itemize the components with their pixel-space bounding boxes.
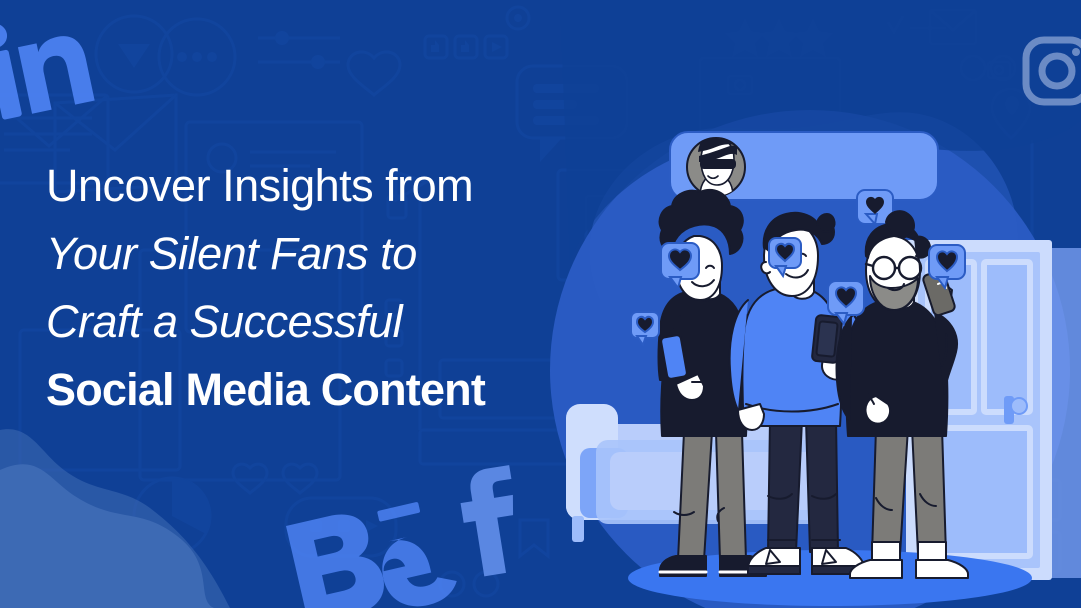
heart-badge	[828, 281, 864, 324]
headline-line-3: Craft a Successful	[46, 288, 626, 356]
heart-badge	[661, 243, 699, 288]
headline-block: Uncover Insights from Your Silent Fans t…	[46, 152, 626, 424]
heart-badge	[631, 312, 659, 345]
headline-line-4: Social Media Content	[46, 356, 626, 424]
social-media-banner: Uncover Insights from Your Silent Fans t…	[0, 0, 1081, 608]
headline-line-2: Your Silent Fans to	[46, 220, 626, 288]
heart-badge	[929, 245, 965, 288]
headline-line-1: Uncover Insights from	[46, 152, 626, 220]
heart-badge	[769, 238, 801, 276]
